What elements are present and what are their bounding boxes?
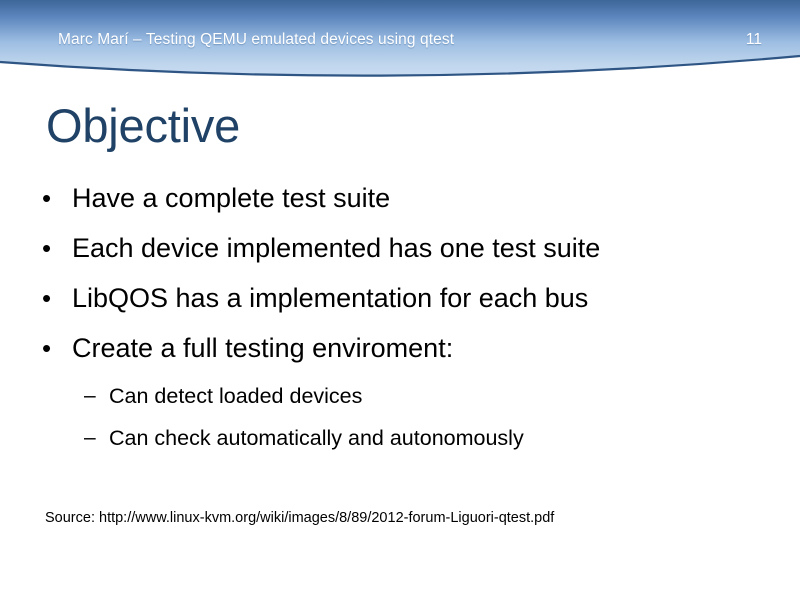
bullet-text: LibQOS has a implementation for each bus [72, 281, 588, 315]
bullet-text: Have a complete test suite [72, 181, 390, 215]
bullet-marker-icon: • [42, 281, 72, 315]
presentation-slide: Marc Marí – Testing QEMU emulated device… [0, 0, 800, 600]
bullet-item: • Create a full testing enviroment: [0, 331, 800, 381]
bullet-item: • Have a complete test suite [0, 181, 800, 231]
bullet-text: Create a full testing enviroment: [72, 331, 453, 365]
slide-header-banner: Marc Marí – Testing QEMU emulated device… [0, 0, 800, 90]
header-page-number: 11 [0, 31, 762, 49]
bullet-marker-icon: • [42, 331, 72, 365]
sub-bullet-item: – Can detect loaded devices [0, 381, 800, 423]
sub-bullet-text: Can check automatically and autonomously [109, 423, 524, 453]
sub-bullet-dash-icon: – [84, 423, 109, 453]
bullet-text: Each device implemented has one test sui… [72, 231, 600, 265]
bullet-item: • LibQOS has a implementation for each b… [0, 281, 800, 331]
bullet-item: • Each device implemented has one test s… [0, 231, 800, 281]
bullet-marker-icon: • [42, 181, 72, 215]
bullet-list: • Have a complete test suite • Each devi… [0, 181, 800, 465]
source-footnote: Source: http://www.linux-kvm.org/wiki/im… [45, 508, 554, 528]
bullet-marker-icon: • [42, 231, 72, 265]
sub-bullet-text: Can detect loaded devices [109, 381, 362, 411]
sub-bullet-item: – Can check automatically and autonomous… [0, 423, 800, 465]
sub-bullet-dash-icon: – [84, 381, 109, 411]
slide-title: Objective [46, 98, 240, 154]
